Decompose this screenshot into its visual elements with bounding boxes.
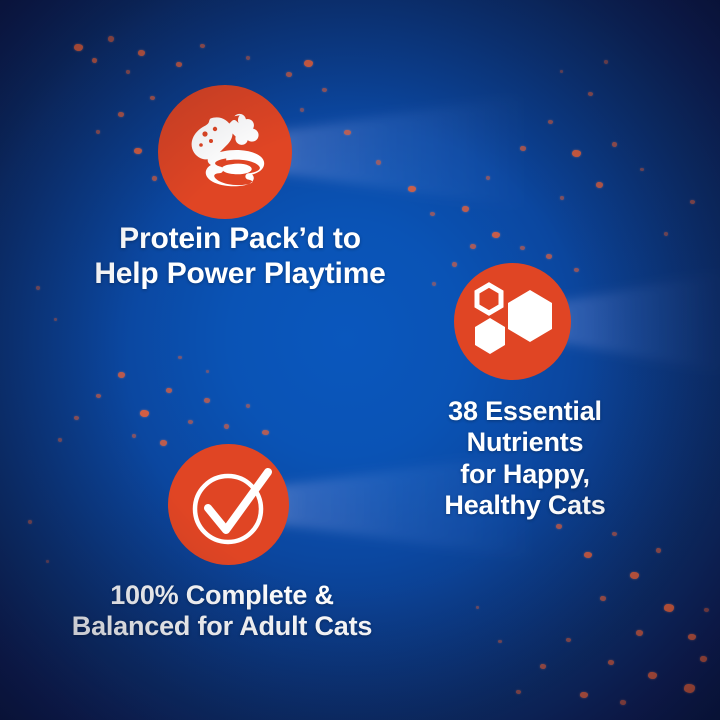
meat-drumstick-icon [177, 104, 273, 200]
checkmark-circle-icon [183, 459, 275, 551]
protein-icon-circle [158, 85, 292, 219]
complete-caption: 100% Complete & Balanced for Adult Cats [22, 580, 422, 643]
complete-icon-circle [168, 444, 289, 565]
nutrients-icon-circle [454, 263, 571, 380]
nutrients-caption: 38 Essential Nutrients for Happy, Health… [370, 396, 680, 521]
protein-caption: Protein Pack’d to Help Power Playtime [40, 222, 440, 292]
hexagon-nutrients-icon [470, 282, 556, 362]
product-benefits-graphic: Protein Pack’d to Help Power Playtime 38… [0, 0, 720, 720]
